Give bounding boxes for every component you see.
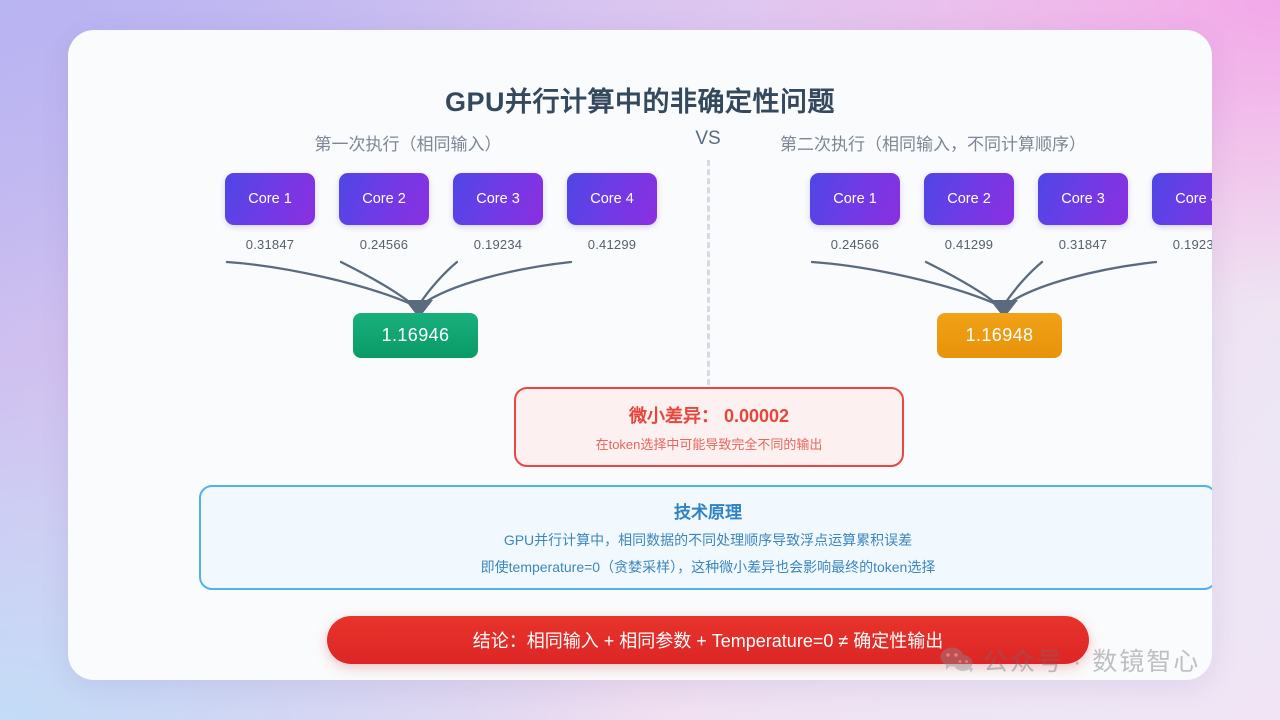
core-value-4: 0.19234 [1152, 237, 1212, 252]
conclusion-banner: 结论：相同输入 + 相同参数 + Temperature=0 ≠ 确定性输出 [327, 616, 1089, 664]
core-box-1[interactable]: Core 1 [810, 173, 900, 225]
core-cell: Core 4 0.41299 [567, 173, 657, 252]
core-cell: Core 3 0.19234 [453, 173, 543, 252]
core-box-2[interactable]: Core 2 [924, 173, 1014, 225]
core-cell: Core 1 0.24566 [810, 173, 900, 252]
core-cell: Core 2 0.24566 [339, 173, 429, 252]
difference-title: 微小差异： 0.00002 [629, 402, 789, 428]
core-cell: Core 3 0.31847 [1038, 173, 1128, 252]
core-cell: Core 1 0.31847 [225, 173, 315, 252]
core-box-4[interactable]: Core 4 [1152, 173, 1212, 225]
result-box-first-run[interactable]: 1.16946 [353, 313, 478, 358]
technical-principle-box: 技术原理 GPU并行计算中，相同数据的不同处理顺序导致浮点运算累积误差 即使te… [199, 485, 1212, 590]
core-value-3: 0.19234 [453, 237, 543, 252]
core-value-2: 0.41299 [924, 237, 1014, 252]
technical-title: 技术原理 [674, 498, 742, 523]
core-row-first-run: Core 1 0.31847 Core 2 0.24566 Core 3 0.1… [225, 173, 657, 252]
core-cell: Core 4 0.19234 [1152, 173, 1212, 252]
panel-heading-second-run: 第二次执行（相同输入，不同计算顺序） [693, 130, 1173, 155]
core-value-2: 0.24566 [339, 237, 429, 252]
difference-callout: 微小差异： 0.00002 在token选择中可能导致完全不同的输出 [514, 387, 904, 467]
technical-line-2: 即使temperature=0（贪婪采样），这种微小差异也会影响最终的token… [481, 557, 936, 577]
slide-card: GPU并行计算中的非确定性问题 第一次执行（相同输入） VS 第二次执行（相同输… [68, 30, 1212, 680]
vs-divider [707, 160, 710, 385]
result-box-second-run[interactable]: 1.16948 [937, 313, 1062, 358]
technical-line-1: GPU并行计算中，相同数据的不同处理顺序导致浮点运算累积误差 [504, 530, 912, 550]
core-box-4[interactable]: Core 4 [567, 173, 657, 225]
core-row-second-run: Core 1 0.24566 Core 2 0.41299 Core 3 0.3… [810, 173, 1212, 252]
panel-heading-first-run: 第一次执行（相同输入） [168, 130, 648, 155]
core-box-1[interactable]: Core 1 [225, 173, 315, 225]
core-value-4: 0.41299 [567, 237, 657, 252]
arrow-group-icon [810, 252, 1210, 320]
core-value-3: 0.31847 [1038, 237, 1128, 252]
page-title: GPU并行计算中的非确定性问题 [68, 80, 1212, 119]
core-value-1: 0.24566 [810, 237, 900, 252]
core-box-2[interactable]: Core 2 [339, 173, 429, 225]
core-cell: Core 2 0.41299 [924, 173, 1014, 252]
core-box-3[interactable]: Core 3 [453, 173, 543, 225]
core-box-3[interactable]: Core 3 [1038, 173, 1128, 225]
core-value-1: 0.31847 [225, 237, 315, 252]
arrow-group-icon [225, 252, 625, 320]
difference-subtitle: 在token选择中可能导致完全不同的输出 [596, 434, 823, 453]
